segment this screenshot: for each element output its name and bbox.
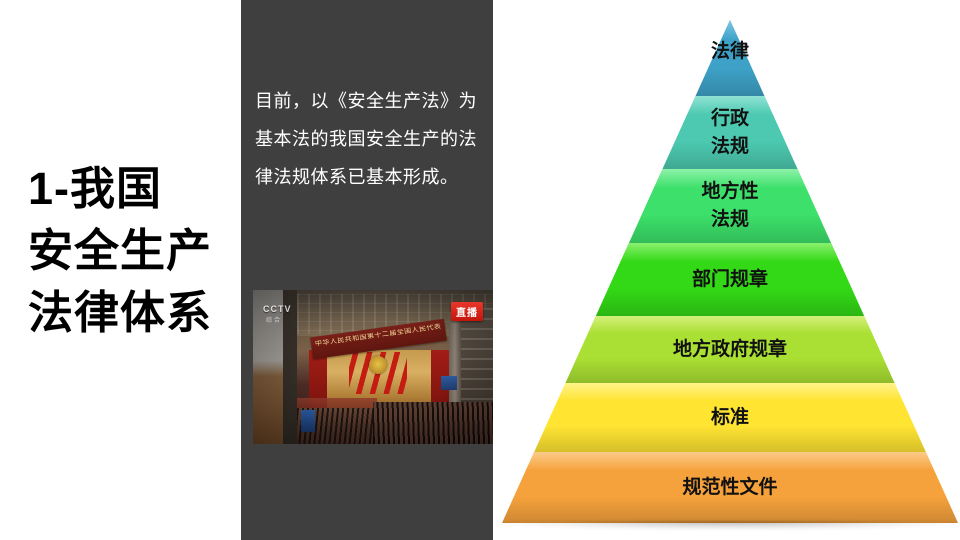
pyramid-level-shape-7 (500, 452, 960, 523)
legal-hierarchy-pyramid: 法律行政法规地方性法规部门规章地方政府规章标准规范性文件 (500, 20, 960, 526)
slide-canvas: 1-我国 安全生产 法律体系 目前，以《安全生产法》为基本法的我国安全生产的法律… (0, 0, 960, 540)
congress-photo: 中华人民共和国第十二届全国人民代表大会第四次会议 CCTV 综合 直播 (253, 290, 493, 444)
pyramid-level-7: 规范性文件 (500, 452, 960, 523)
cctv-watermark-sub: 综合 (266, 315, 282, 324)
pyramid-level-shape-3 (500, 169, 960, 243)
panel-body-text: 目前，以《安全生产法》为基本法的我国安全生产的法律法规体系已基本形成。 (255, 82, 483, 196)
pyramid-level-6: 标准 (500, 383, 960, 452)
title-line-1: 1-我国 (28, 158, 238, 220)
live-badge: 直播 (451, 302, 483, 321)
page-title: 1-我国 安全生产 法律体系 (28, 158, 238, 344)
pyramid-level-shape-6 (500, 383, 960, 452)
title-line-2: 安全生产 (28, 220, 238, 282)
pyramid-shadow (504, 521, 956, 530)
pyramid-level-1: 法律 (500, 20, 960, 96)
pyramid-level-5: 地方政府规章 (500, 316, 960, 383)
dark-content-panel: 目前，以《安全生产法》为基本法的我国安全生产的法律法规体系已基本形成。 中华人民… (241, 0, 493, 540)
cctv-watermark-icon: CCTV (263, 304, 292, 314)
pyramid-level-shape-4 (500, 243, 960, 316)
pyramid-level-2: 行政法规 (500, 96, 960, 169)
pyramid-level-3: 地方性法规 (500, 169, 960, 243)
pyramid-level-shape-2 (500, 96, 960, 169)
title-line-3: 法律体系 (28, 282, 238, 344)
pyramid-level-4: 部门规章 (500, 243, 960, 316)
pyramid-level-shape-1 (500, 20, 960, 96)
pyramid-level-shape-5 (500, 316, 960, 383)
